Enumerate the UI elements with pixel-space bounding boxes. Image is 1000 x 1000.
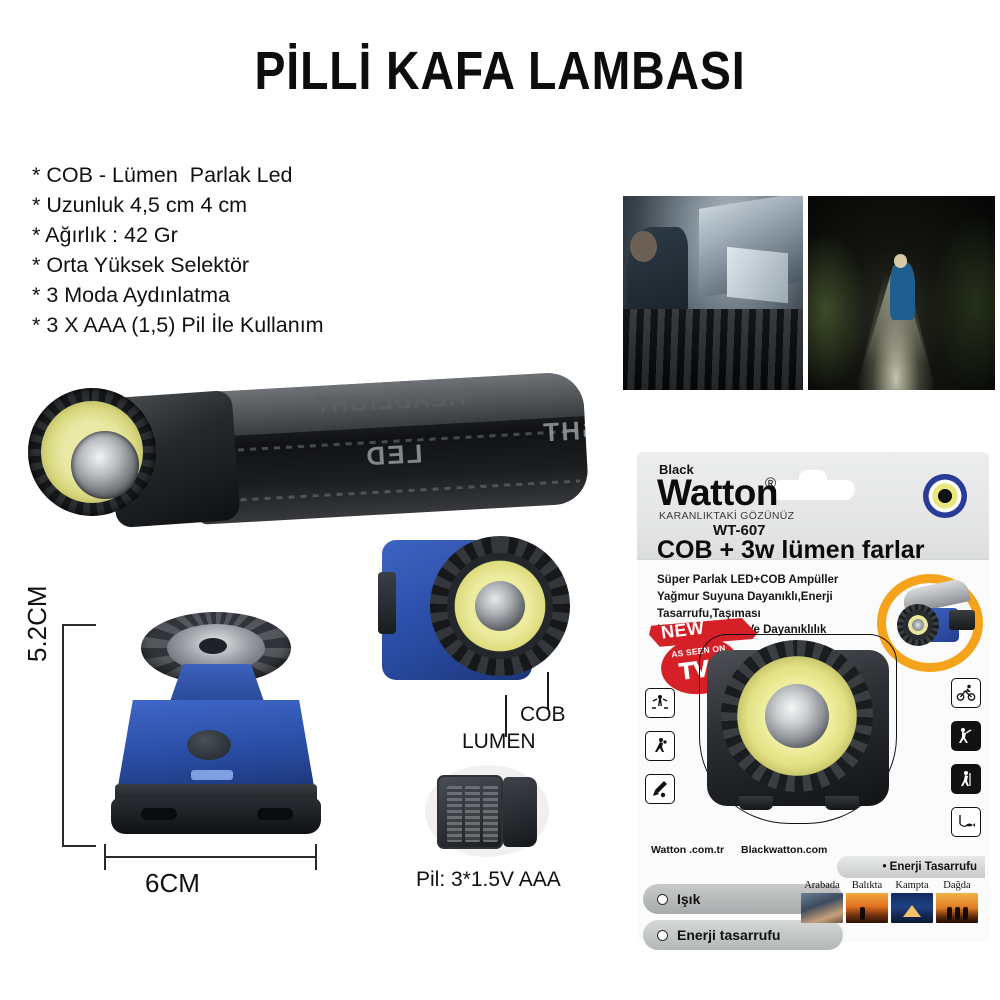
cob-ring-yellow (737, 656, 857, 776)
gardening-icon (645, 774, 675, 804)
battery-caption: Pil: 3*1.5V AAA (416, 868, 561, 892)
dimension-tick-left (104, 844, 106, 870)
battery-lid (503, 777, 537, 847)
use-case-balikta: Balıkta (846, 880, 888, 923)
product-bezel (721, 640, 873, 792)
hiker-figure (890, 262, 914, 320)
callout-led-lens (912, 619, 924, 631)
url-watton: Watton .com.tr (651, 844, 724, 856)
head-strap: HEADLIGHT LED LIGHT (191, 371, 590, 525)
lifestyle-photo-pair (623, 196, 995, 390)
aaa-cell (483, 786, 498, 842)
use-case-image (936, 893, 978, 923)
dimension-tick-right (315, 844, 317, 870)
activity-icons-right (951, 678, 981, 850)
callout-label-cob: COB (520, 703, 566, 727)
clip-slot-left (141, 808, 177, 820)
callout-label-lumen: LUMEN (462, 730, 536, 754)
blue-lamp-bezel (430, 536, 570, 676)
use-case-label: Balıkta (846, 880, 888, 891)
use-case-label: Dağda (936, 880, 978, 891)
strap-text-light: LIGHT (541, 413, 590, 449)
registered-trademark-icon: ® (765, 475, 776, 492)
package-product-photo (693, 634, 903, 830)
feature-item: * COB - Lümen Parlak Led (32, 160, 462, 190)
dimension-line-vertical (62, 624, 64, 846)
callout-lamp-bezel (897, 604, 939, 646)
dimension-line-horizontal (104, 856, 316, 858)
use-case-arabada: Arabada (801, 880, 843, 923)
activity-icons-left (645, 688, 675, 817)
camping-icon (645, 688, 675, 718)
blue-headlamp-front-photo (378, 528, 574, 700)
lamp-power-button (187, 730, 231, 760)
mode-label: Enerji tasarrufu (677, 927, 780, 943)
brand-watton-text: Watton (657, 472, 778, 514)
aaa-cell (447, 786, 462, 842)
use-case-label: Arabada (801, 880, 843, 891)
dimension-tick-top (62, 624, 96, 626)
use-case-image (891, 893, 933, 923)
use-case-kampta: Kampta (891, 880, 933, 923)
brand-tagline: KARANLIKTAKİ GÖZÜNÜZ (659, 510, 794, 522)
climbing-icon (951, 721, 981, 751)
mechanic-head (630, 231, 657, 262)
product-foot (825, 796, 859, 810)
battery-compartment-photo (425, 765, 549, 857)
callout-strap-buckle (949, 610, 975, 630)
lamp-front-slot (191, 770, 233, 780)
foliage-left (808, 231, 868, 390)
radio-icon[interactable] (657, 894, 668, 905)
use-case-thumbnails: Arabada Balıkta Kampta Dağda (801, 880, 983, 923)
hiking-gear-icon (645, 731, 675, 761)
feature-list: * COB - Lümen Parlak Led * Uzunluk 4,5 c… (32, 160, 462, 341)
hang-hole (771, 480, 855, 500)
page-title: PİLLİ KAFA LAMBASI (70, 40, 930, 102)
fishing-icon (951, 807, 981, 837)
description-line: Süper Parlak LED+COB Ampüller (657, 572, 907, 589)
mechanic-under-car-hood-photo (623, 196, 803, 390)
black-lamp-bezel (28, 388, 156, 516)
mode-label: Işık (677, 891, 700, 907)
dimension-label-width: 6CM (145, 868, 200, 899)
use-case-dagda: Dağda (936, 880, 978, 923)
feature-item: * Orta Yüksek Selektör (32, 250, 462, 280)
led-lens (71, 431, 139, 499)
night-hiking-trail-photo (808, 196, 995, 390)
dimension-tick-bottom (62, 845, 96, 847)
retail-package-card: Black Watton ® KARANLIKTAKİ GÖZÜNÜZ WT-6… (637, 452, 989, 942)
evil-eye-icon (923, 474, 967, 518)
dimension-label-height: 5.2CM (22, 585, 53, 662)
package-headline: COB + 3w lümen farlar (657, 536, 924, 565)
radio-icon[interactable] (657, 930, 668, 941)
strap-text-led: LED (364, 438, 424, 472)
hiker-head (894, 254, 907, 268)
energy-saving-badge: • Enerji Tasarrufu (837, 856, 985, 878)
foliage-right (931, 215, 995, 390)
blue-headlamp-side-photo (95, 612, 330, 847)
battery-case (437, 775, 503, 849)
feature-item: * 3 Moda Aydınlatma (32, 280, 462, 310)
blue-lamp-side-clip (378, 572, 396, 634)
trekking-icon (951, 764, 981, 794)
engine-bay (623, 309, 803, 390)
use-case-label: Kampta (891, 880, 933, 891)
url-blackwatton: Blackwatton.com (741, 844, 827, 856)
lamp-cap-center (199, 638, 227, 654)
feature-item: * 3 X AAA (1,5) Pil İle Kullanım (32, 310, 462, 340)
use-case-image (801, 893, 843, 923)
cob-ring-yellow (447, 553, 553, 659)
cob-ring-yellow (41, 401, 143, 503)
aaa-cell (465, 786, 480, 842)
feature-item: * Uzunluk 4,5 cm 4 cm (32, 190, 462, 220)
callout-cob-ring (903, 610, 933, 640)
windshield-shape (727, 247, 788, 304)
led-lens (475, 581, 525, 631)
cycling-icon (951, 678, 981, 708)
mode-row-enerji-tasarrufu[interactable]: Enerji tasarrufu (643, 920, 843, 950)
package-urls: Watton .com.tr Blackwatton.com (651, 844, 841, 856)
feature-item: * Ağırlık : 42 Gr (32, 220, 462, 250)
led-lens (765, 684, 829, 748)
clip-slot-right (257, 808, 293, 820)
use-case-image (846, 893, 888, 923)
product-foot (739, 796, 773, 810)
